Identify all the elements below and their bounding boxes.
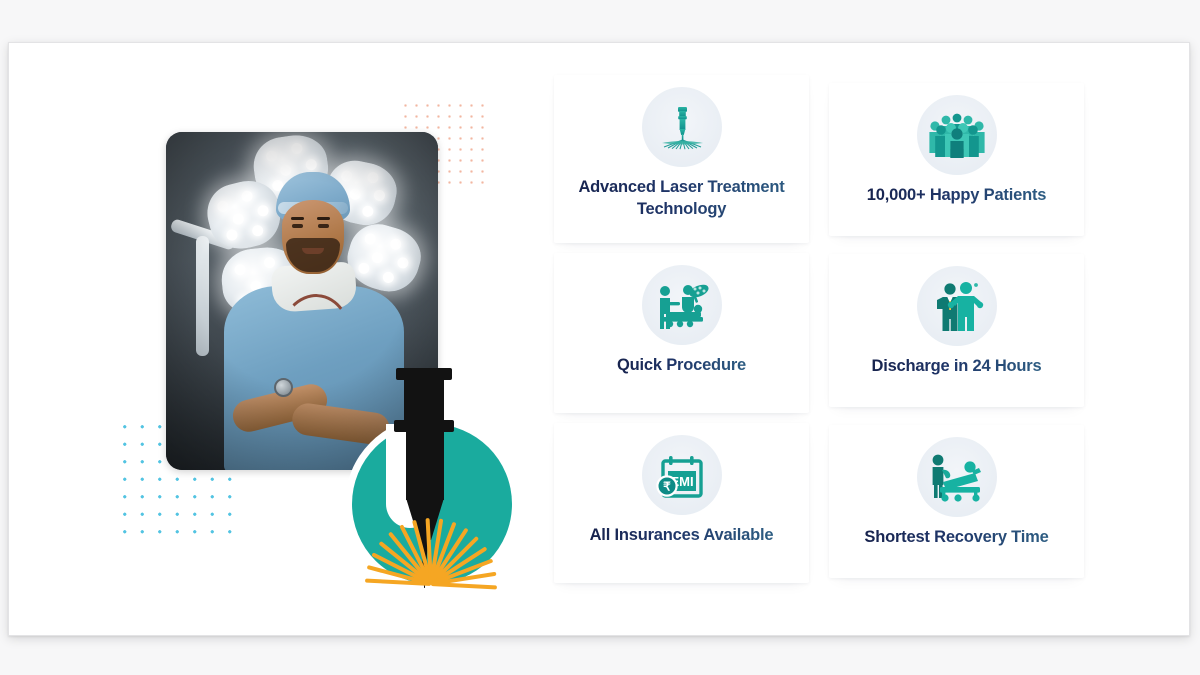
laser-ray bbox=[431, 582, 497, 589]
features-column-right: 10,000+ Happy Patients bbox=[829, 75, 1084, 600]
features-grid: Advanced Laser Treatment Technology bbox=[554, 75, 1114, 600]
left-visual-group bbox=[104, 68, 524, 613]
feature-label: Shortest Recovery Time bbox=[860, 527, 1052, 549]
feature-label: Advanced Laser Treatment Technology bbox=[562, 177, 801, 221]
feature-label: All Insurances Available bbox=[586, 525, 778, 547]
laser-syringe-graphic bbox=[334, 368, 534, 618]
feature-card-all-insurances[interactable]: EMI ₹ All Insurances Available bbox=[554, 423, 809, 583]
emi-calendar-icon: EMI ₹ bbox=[642, 435, 722, 515]
crowd-of-people-icon bbox=[917, 95, 997, 175]
feature-label: Discharge in 24 Hours bbox=[867, 356, 1045, 378]
laser-rays-group bbox=[334, 564, 534, 618]
syringe-plunger-rod bbox=[404, 378, 444, 424]
feature-card-advanced-laser[interactable]: Advanced Laser Treatment Technology bbox=[554, 75, 809, 243]
feature-label: Quick Procedure bbox=[613, 355, 750, 377]
feature-card-happy-patients[interactable]: 10,000+ Happy Patients bbox=[829, 83, 1084, 236]
doctor-and-patient-icon bbox=[917, 266, 997, 346]
syringe-barrel bbox=[406, 430, 444, 500]
rupee-badge-text: ₹ bbox=[663, 480, 671, 494]
operating-table-icon bbox=[642, 265, 722, 345]
laser-beam-icon bbox=[642, 87, 722, 167]
presentation-slide: Advanced Laser Treatment Technology bbox=[8, 42, 1190, 636]
feature-card-discharge-24-hours[interactable]: Discharge in 24 Hours bbox=[829, 254, 1084, 407]
screenshot-canvas: Advanced Laser Treatment Technology bbox=[0, 0, 1200, 675]
feature-label: 10,000+ Happy Patients bbox=[863, 185, 1051, 207]
feature-card-shortest-recovery[interactable]: Shortest Recovery Time bbox=[829, 425, 1084, 578]
feature-card-quick-procedure[interactable]: Quick Procedure bbox=[554, 253, 809, 413]
features-column-left: Advanced Laser Treatment Technology bbox=[554, 75, 809, 600]
patient-on-stretcher-icon bbox=[917, 437, 997, 517]
